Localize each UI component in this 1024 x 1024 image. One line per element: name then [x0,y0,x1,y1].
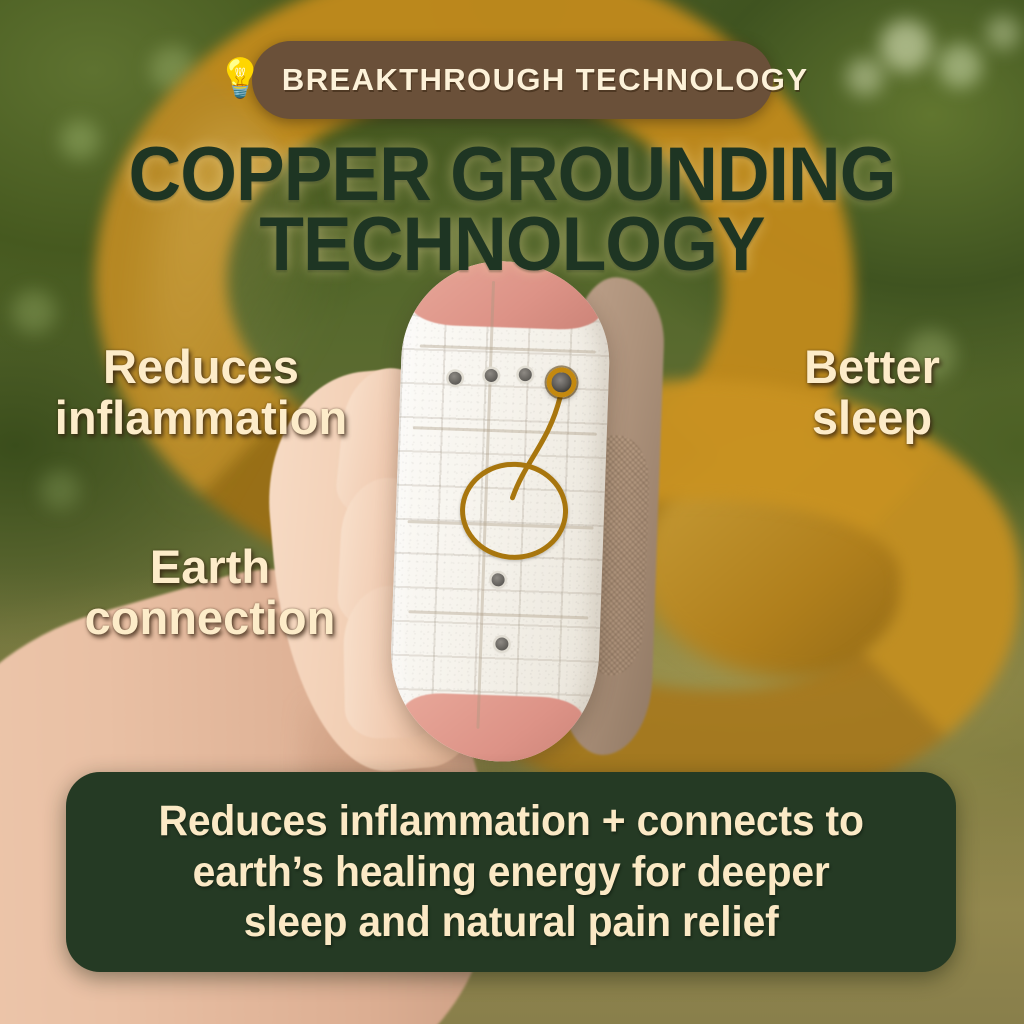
badge-label: BREAKTHROUGH TECHNOLOGY [282,62,808,98]
bokeh-dot [880,20,932,72]
bokeh-dot [938,44,982,88]
breakthrough-badge[interactable]: 💡 BREAKTHROUGH TECHNOLOGY [252,41,773,119]
bokeh-dot [12,290,56,334]
bokeh-dot [986,16,1020,50]
shoe-product [381,258,656,767]
page-title: COPPER GROUNDING TECHNOLOGY [20,140,1003,280]
feature-label-better-sleep: Better sleep [752,342,992,444]
feature-label-reduces-inflammation: Reduces inflammation [26,342,376,444]
shoe-sole [387,258,612,765]
feature-label-earth-connection: Earth connection [60,542,360,644]
caption-panel: Reduces inflammation + connects to earth… [66,772,956,972]
bokeh-dot [846,58,884,96]
bokeh-dot [40,470,80,510]
caption-text: Reduces inflammation + connects to earth… [134,796,889,948]
title-line-2: TECHNOLOGY [20,210,1003,280]
promotional-poster: 💡 BREAKTHROUGH TECHNOLOGY COPPER GROUNDI… [0,0,1024,1024]
lightbulb-icon: 💡 [217,60,264,98]
